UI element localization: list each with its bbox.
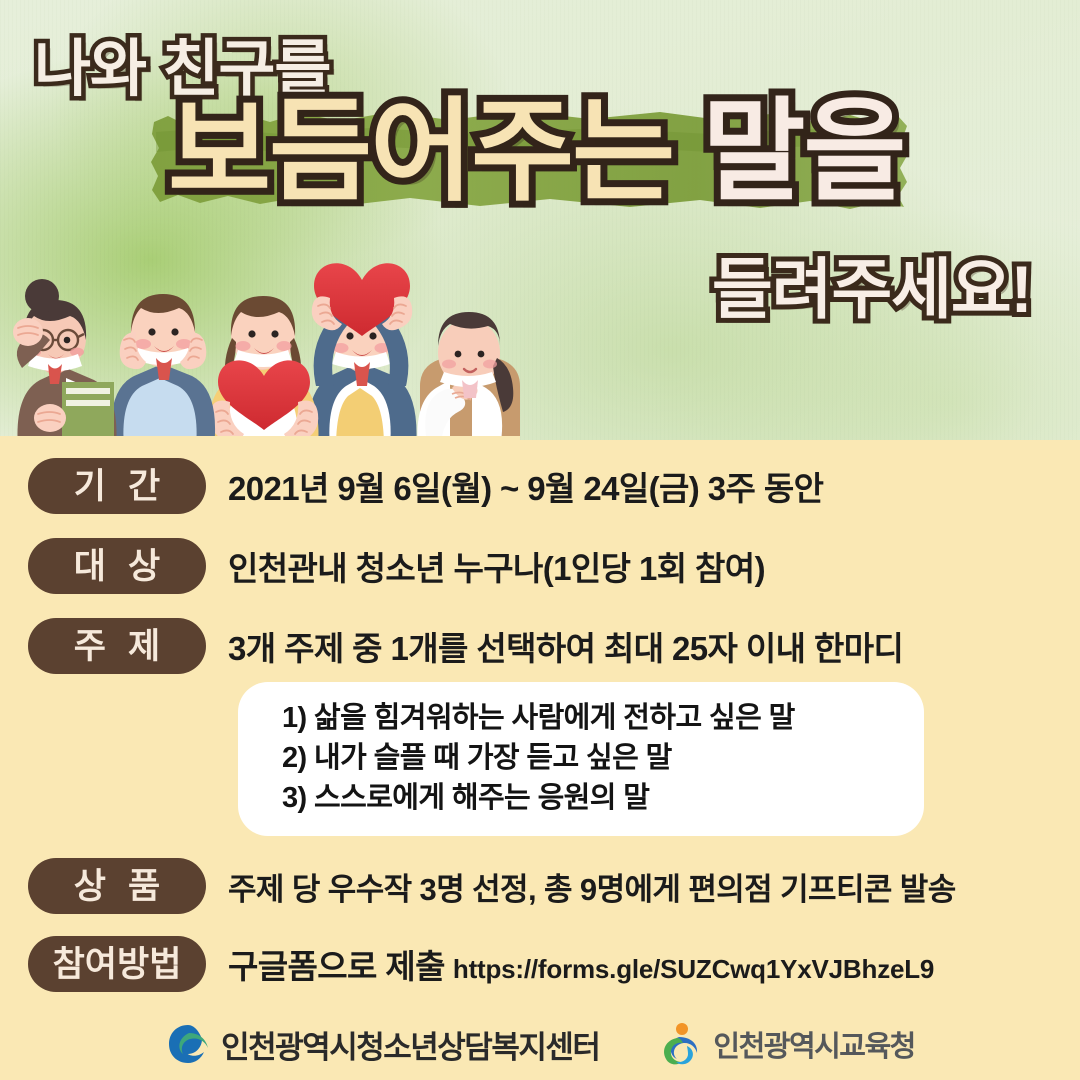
swirl-blue-green-icon: [165, 1021, 211, 1067]
info-row-period: 기간 2021년 9월 6일(월) ~ 9월 24일(금) 3주 동안: [0, 458, 1080, 514]
info-row-howto: 참여방법 구글폼으로 제출https://forms.gle/SUZCwq1Yx…: [0, 936, 1080, 992]
topic-options-card: 1) 삶을 힘겨워하는 사람에게 전하고 싶은 말 2) 내가 슬플 때 가장 …: [238, 682, 924, 836]
value-period: 2021년 9월 6일(월) ~ 9월 24일(금) 3주 동안: [228, 462, 823, 510]
logo-education-office: 인천광역시교육청: [657, 1021, 914, 1067]
label-pill-target: 대상: [28, 538, 206, 594]
label-pill-prize: 상품: [28, 858, 206, 914]
logo-education-office-label: 인천광역시교육청: [713, 1023, 914, 1065]
list-item: 1) 삶을 힘겨워하는 사람에게 전하고 싶은 말: [282, 698, 924, 738]
headline-line-3: 들려주세요!: [712, 236, 1032, 332]
value-target: 인천관내 청소년 누구나(1인당 1회 참여): [228, 542, 765, 590]
headline-line-2: 보듬어주는 말을: [168, 96, 904, 208]
list-item: 3) 스스로에게 해주는 응원의 말: [282, 778, 924, 818]
google-form-link[interactable]: https://forms.gle/SUZCwq1YxVJBhzeL9: [453, 954, 934, 984]
label-pill-topic: 주제: [28, 618, 206, 674]
label-pill-howto: 참여방법: [28, 936, 206, 992]
info-row-topic: 주제 3개 주제 중 1개를 선택하여 최대 25자 이내 한마디: [0, 618, 1080, 674]
info-row-target: 대상 인천관내 청소년 누구나(1인당 1회 참여): [0, 538, 1080, 594]
value-howto-text: 구글폼으로 제출: [228, 948, 445, 985]
logo-counseling-center-label: 인천광역시청소년상담복지센터: [221, 1022, 599, 1067]
value-prize: 주제 당 우수작 3명 선정, 총 9명에게 편의점 기프티콘 발송: [228, 864, 956, 909]
students-with-hearts-illustration: [0, 236, 520, 448]
value-topic: 3개 주제 중 1개를 선택하여 최대 25자 이내 한마디: [228, 622, 903, 670]
poster-root: 나와 친구를 보듬어주는 말을 들려주세요!: [0, 0, 1080, 1080]
headline-word-bodeum: 보듬어주는: [168, 89, 673, 214]
logo-counseling-center: 인천광역시청소년상담복지센터: [165, 1021, 599, 1067]
list-item: 2) 내가 슬플 때 가장 듣고 싶은 말: [282, 738, 924, 778]
topic-options-list: 1) 삶을 힘겨워하는 사람에게 전하고 싶은 말 2) 내가 슬플 때 가장 …: [238, 682, 924, 818]
headline-word-maleul: 말을: [702, 89, 904, 214]
footer-logos: 인천광역시청소년상담복지센터 인천광역시교육청: [0, 1008, 1080, 1080]
value-howto: 구글폼으로 제출https://forms.gle/SUZCwq1YxVJBhz…: [228, 940, 934, 988]
info-row-prize: 상품 주제 당 우수작 3명 선정, 총 9명에게 편의점 기프티콘 발송: [0, 858, 1080, 914]
label-pill-period: 기간: [28, 458, 206, 514]
swirl-person-icon: [657, 1021, 703, 1067]
